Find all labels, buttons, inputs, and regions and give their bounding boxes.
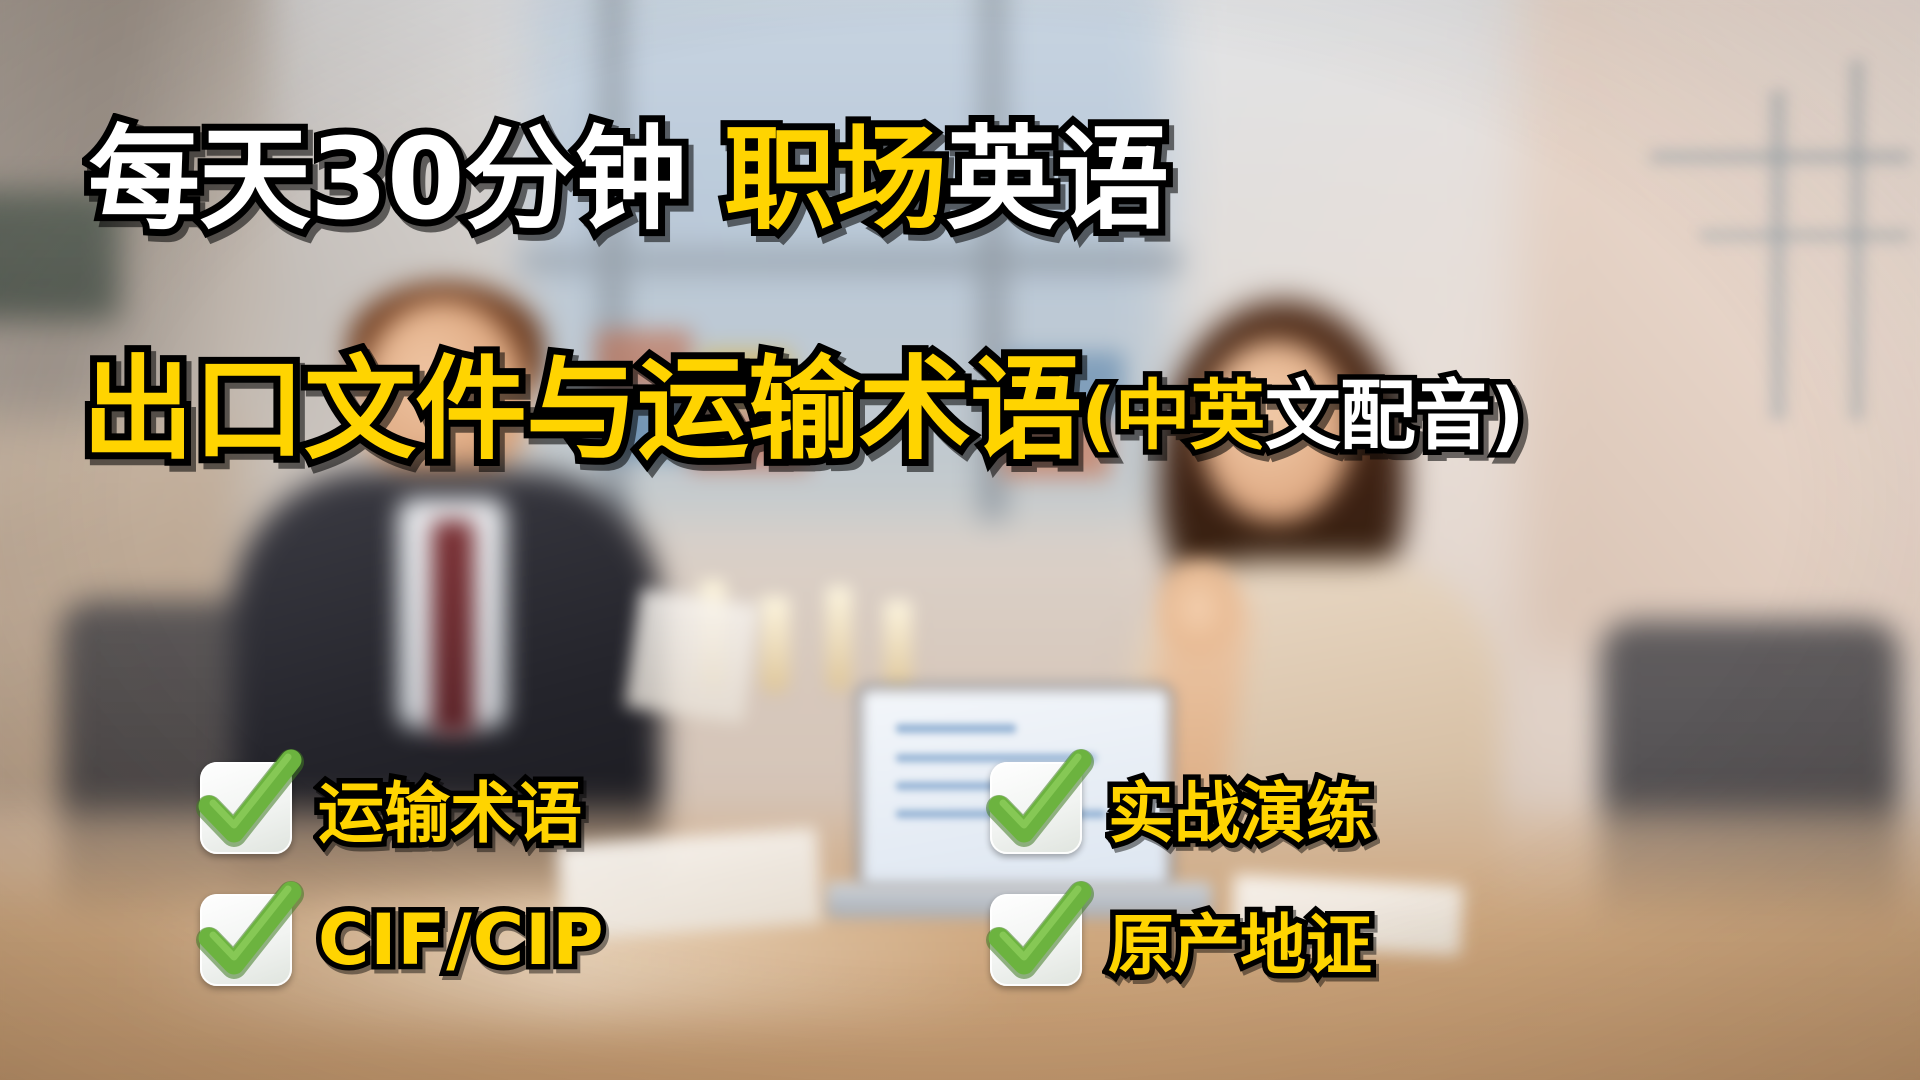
title-line-1-part-1: 每天30分钟 [88, 115, 724, 245]
list-item-label: CIF/CIP [318, 899, 605, 981]
title-line-2-paren-yellow: 中英 [1115, 371, 1265, 460]
title-line-1-part-3: 英语 [946, 115, 1168, 245]
title-line-2-main: 出口文件与运输术语 [82, 345, 1081, 475]
title-line-1-part-2: 职场 [724, 115, 946, 245]
title-line-1: 每天30分钟 职场英语 [88, 122, 1168, 240]
check-mark-icon [990, 762, 1082, 854]
list-item: 运输术语 [200, 742, 605, 874]
title-line-2-paren-open: ( [1081, 371, 1115, 460]
title-line-2: 出口文件与运输术语(中英文配音) [82, 352, 1523, 470]
checklist-column-left: 运输术语 CIF/CIP [200, 742, 605, 1006]
list-item-label: 原产地证 [1108, 892, 1372, 988]
check-mark-icon [200, 762, 292, 854]
title-line-2-paren-white: 文配音) [1265, 371, 1524, 460]
list-item-label: 运输术语 [318, 760, 582, 856]
list-item-label: 实战演练 [1108, 760, 1372, 856]
check-mark-icon [990, 894, 1082, 986]
check-mark-icon [200, 894, 292, 986]
list-item: CIF/CIP [200, 874, 605, 1006]
list-item: 原产地证 [990, 874, 1372, 1006]
thumbnail-overlay: 每天30分钟 职场英语 出口文件与运输术语(中英文配音) 运输术语 [0, 0, 1920, 1080]
checklist-column-right: 实战演练 原产地证 [990, 742, 1372, 1006]
list-item: 实战演练 [990, 742, 1372, 874]
